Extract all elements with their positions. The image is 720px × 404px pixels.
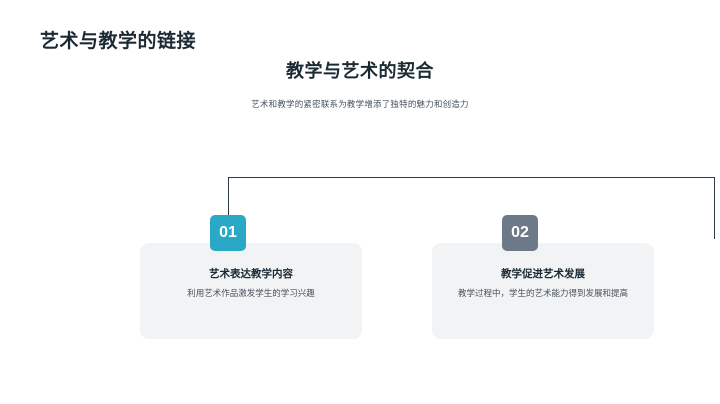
- card-body-02: 教学过程中，学生的艺术能力得到发展和提高: [458, 287, 628, 300]
- connector-horizontal-line: [228, 177, 715, 178]
- card-title-01: 艺术表达教学内容: [140, 266, 362, 281]
- connector-vertical-line-right: [714, 177, 715, 239]
- slide-subheadline: 艺术和教学的紧密联系为教学增添了独特的魅力和创造力: [0, 98, 720, 110]
- content-card-02[interactable]: 02 教学促进艺术发展 教学过程中，学生的艺术能力得到发展和提高: [432, 243, 654, 339]
- slide-canvas: 艺术与教学的链接 教学与艺术的契合 艺术和教学的紧密联系为教学增添了独特的魅力和…: [0, 0, 720, 404]
- card-body-01: 利用艺术作品激发学生的学习兴趣: [166, 287, 336, 300]
- card-number-badge-02: 02: [502, 215, 538, 251]
- card-title-02: 教学促进艺术发展: [432, 266, 654, 281]
- content-card-01[interactable]: 01 艺术表达教学内容 利用艺术作品激发学生的学习兴趣: [140, 243, 362, 339]
- slide-headline: 教学与艺术的契合: [0, 57, 720, 83]
- card-number-badge-01: 01: [210, 215, 246, 251]
- slide-title: 艺术与教学的链接: [40, 26, 196, 53]
